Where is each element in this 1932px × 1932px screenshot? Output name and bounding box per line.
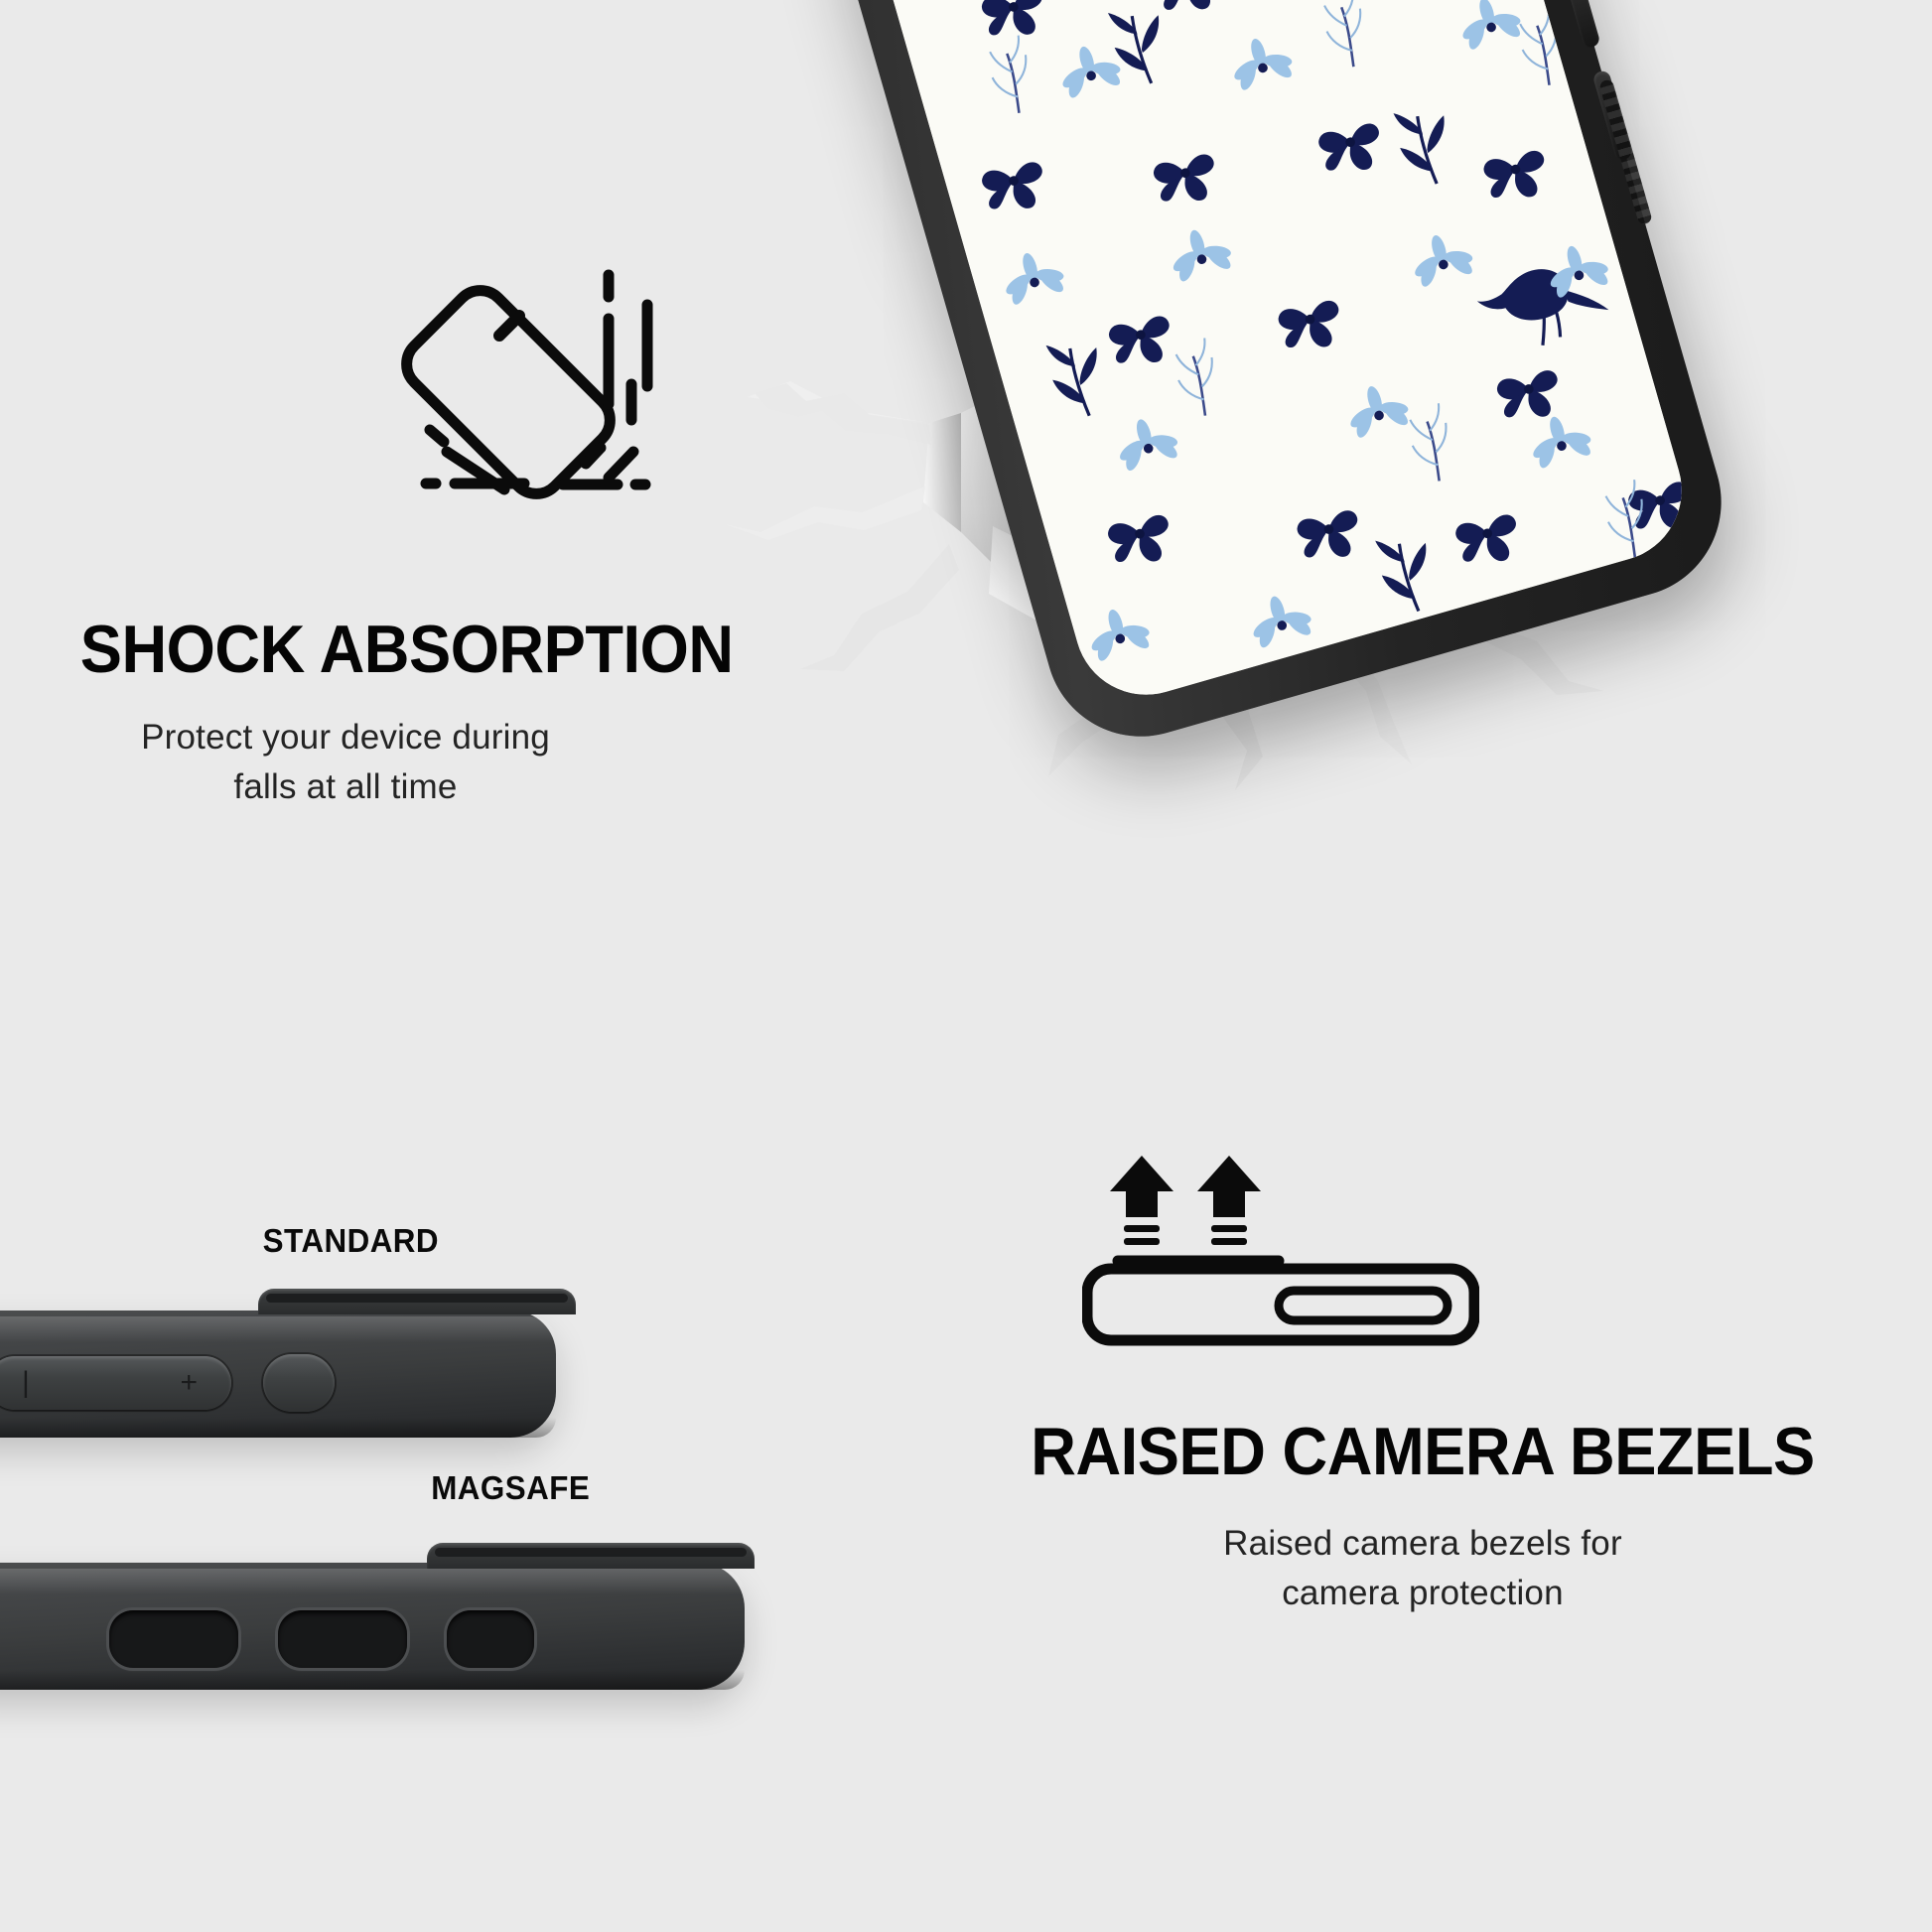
variant-label-standard: STANDARD	[263, 1222, 439, 1260]
raised-camera-bezels-subtitle-line2: camera protection	[1045, 1569, 1800, 1618]
button-cutout-3	[447, 1610, 534, 1668]
power-button	[263, 1354, 335, 1412]
case-variant-profiles: STANDARD | + MAGSAFE	[0, 1221, 894, 1932]
shock-absorption-title: SHOCK ABSORPTION	[80, 616, 734, 683]
button-cutout-1	[109, 1610, 238, 1668]
raised-camera-bezel-icon	[1082, 1152, 1479, 1350]
volume-up-glyph: +	[180, 1368, 198, 1398]
button-cutout-2	[278, 1610, 407, 1668]
profile-highlight	[0, 1316, 556, 1342]
profile-shadow	[0, 1418, 556, 1438]
speaker-grill	[1598, 78, 1653, 225]
phone-drop-impact-icon	[397, 253, 675, 511]
variant-label-magsafe: MAGSAFE	[431, 1469, 590, 1507]
raised-camera-bezels-subtitle: Raised camera bezels for camera protecti…	[1045, 1519, 1800, 1617]
feature-callout-sheet: SHOCK ABSORPTION Protect your device dur…	[0, 0, 1932, 1932]
raised-camera-bezels-subtitle-line1: Raised camera bezels for	[1045, 1519, 1800, 1569]
profile-shadow	[0, 1670, 745, 1690]
volume-rocker: | +	[0, 1356, 231, 1410]
drop-test-illustration	[695, 0, 1932, 794]
shock-absorption-subtitle-line1: Protect your device during	[56, 713, 635, 762]
raised-camera-bezels-section: RAISED CAMERA BEZELS Raised camera bezel…	[913, 1132, 1932, 1866]
standard-case-profile: | +	[0, 1311, 556, 1438]
magsafe-case-profile	[0, 1563, 745, 1690]
shock-absorption-subtitle: Protect your device during falls at all …	[56, 713, 635, 811]
profile-highlight	[0, 1569, 745, 1594]
raised-camera-bezels-title: RAISED CAMERA BEZELS	[949, 1418, 1896, 1485]
magsafe-camera-lip	[427, 1543, 755, 1569]
shock-absorption-subtitle-line2: falls at all time	[56, 762, 635, 812]
shock-absorption-section: SHOCK ABSORPTION Protect your device dur…	[0, 0, 755, 874]
standard-camera-lip	[258, 1289, 576, 1314]
volume-down-glyph: |	[22, 1368, 30, 1398]
volume-down-button	[1560, 0, 1601, 49]
